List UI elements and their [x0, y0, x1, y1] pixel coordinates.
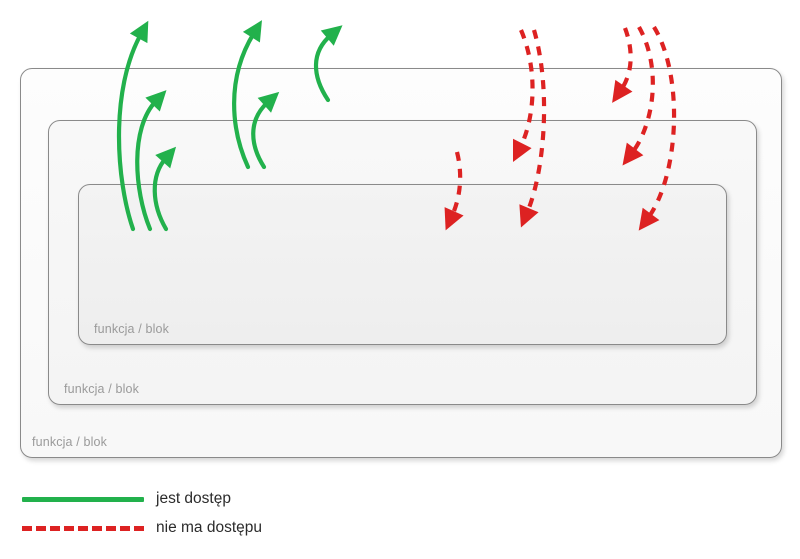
- scope-label-middle: funkcja / blok: [64, 382, 139, 396]
- scope-label-inner: funkcja / blok: [94, 322, 169, 336]
- legend-label-access: jest dostęp: [156, 490, 231, 508]
- legend-swatch-access-solid-line: [22, 497, 144, 502]
- scope-box-inner: [78, 184, 727, 345]
- legend-label-no-access: nie ma dostępu: [156, 519, 262, 537]
- legend-swatch-no-access-dashed-line: [22, 526, 144, 531]
- legend-item-no-access: nie ma dostępu: [22, 515, 262, 541]
- scope-access-diagram: funkcja / blok funkcja / blok funkcja / …: [0, 0, 800, 559]
- scope-label-outer: funkcja / blok: [32, 435, 107, 449]
- legend: jest dostęp nie ma dostępu: [0, 478, 800, 559]
- legend-item-access: jest dostęp: [22, 486, 231, 512]
